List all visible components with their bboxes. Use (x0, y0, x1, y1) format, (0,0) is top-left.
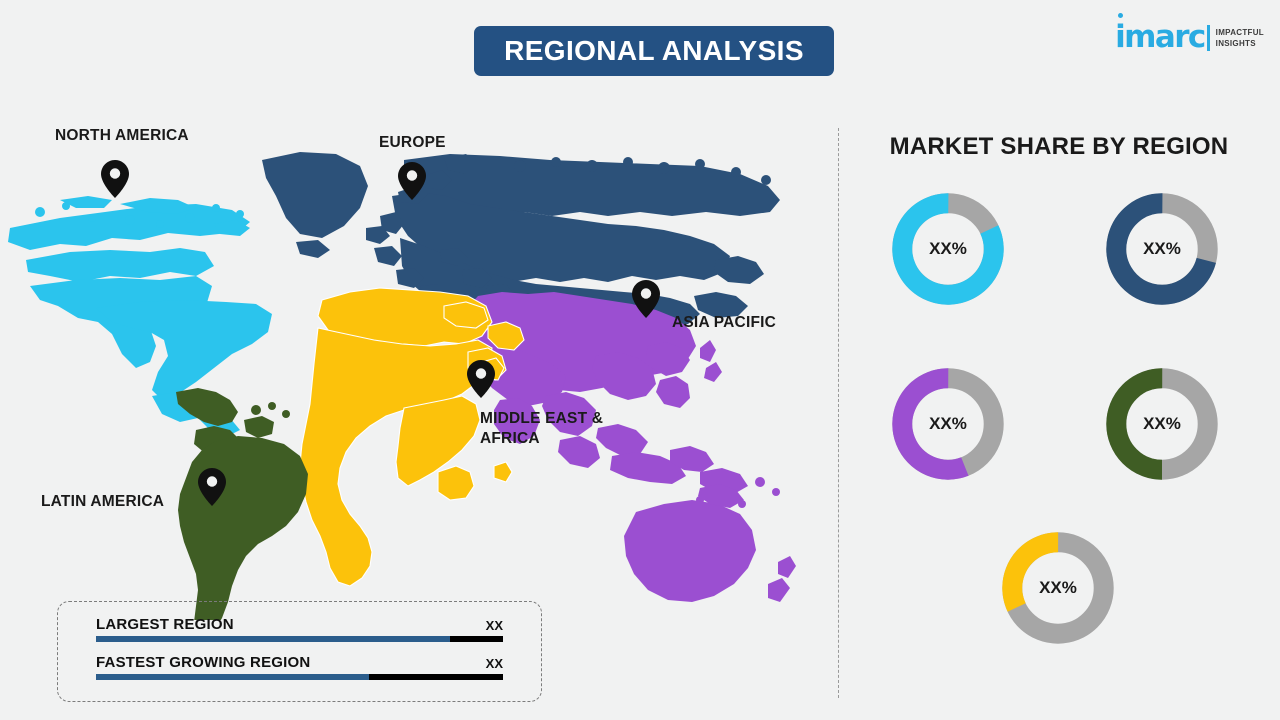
panel-divider (838, 128, 839, 698)
page-title: REGIONAL ANALYSIS (504, 35, 804, 67)
map-region-greenland (262, 152, 368, 258)
donut-middle-east-africa: XX% (998, 528, 1118, 648)
map-pin-north-america (101, 160, 129, 198)
fastest-growing-region-bar-fill (96, 674, 369, 680)
donut-middle-east-africa-value: XX% (998, 528, 1118, 648)
map-label-middle-east-africa: MIDDLE EAST & AFRICA (480, 409, 603, 449)
map-label-latin-america: LATIN AMERICA (41, 492, 164, 512)
fastest-growing-region-bar-track (96, 674, 503, 680)
world-map (0, 100, 830, 620)
largest-region-bar-fill (96, 636, 450, 642)
map-pin-europe (398, 162, 426, 200)
largest-region-bar-track (96, 636, 503, 642)
map-pin-middle-east-africa (467, 360, 495, 398)
logo-tagline: IMPACTFUL INSIGHTS (1216, 27, 1264, 49)
fastest-growing-region-label: FASTEST GROWING REGION (96, 654, 310, 671)
largest-region-label: LARGEST REGION (96, 616, 234, 633)
market-share-title: MARKET SHARE BY REGION (838, 133, 1280, 161)
map-pin-asia-pacific (632, 280, 660, 318)
region-summary-box: LARGEST REGION XX FASTEST GROWING REGION… (57, 601, 542, 702)
page-title-banner: REGIONAL ANALYSIS (474, 26, 834, 76)
infographic-canvas: REGIONAL ANALYSIS imarc IMPACTFUL INSIGH… (0, 0, 1280, 720)
map-label-north-america: NORTH AMERICA (55, 126, 189, 146)
fastest-growing-region-row: FASTEST GROWING REGION XX (96, 654, 503, 680)
logo-divider-icon (1207, 25, 1210, 51)
map-label-asia-pacific: ASIA PACIFIC (672, 313, 776, 333)
logo-tagline-line1: IMPACTFUL (1216, 27, 1264, 38)
donut-latin-america-value: XX% (1102, 364, 1222, 484)
donut-asia-pacific-value: XX% (888, 364, 1008, 484)
donut-europe-value: XX% (1102, 189, 1222, 309)
largest-region-value: XX (486, 618, 503, 633)
imarc-logo: imarc IMPACTFUL INSIGHTS (1115, 22, 1264, 53)
fastest-growing-region-value: XX (486, 656, 503, 671)
logo-wordmark: imarc (1115, 22, 1205, 53)
donut-north-america-value: XX% (888, 189, 1008, 309)
logo-text: imarc (1115, 22, 1205, 53)
donut-north-america: XX% (888, 189, 1008, 309)
map-region-north-america (8, 196, 272, 436)
donut-latin-america: XX% (1102, 364, 1222, 484)
donut-asia-pacific: XX% (888, 364, 1008, 484)
map-label-europe: EUROPE (379, 133, 446, 153)
logo-dot-icon (1118, 13, 1123, 18)
largest-region-row: LARGEST REGION XX (96, 616, 503, 642)
logo-tagline-line2: INSIGHTS (1216, 38, 1264, 49)
map-region-latin-america (176, 388, 308, 620)
donut-europe: XX% (1102, 189, 1222, 309)
map-pin-latin-america (198, 468, 226, 506)
